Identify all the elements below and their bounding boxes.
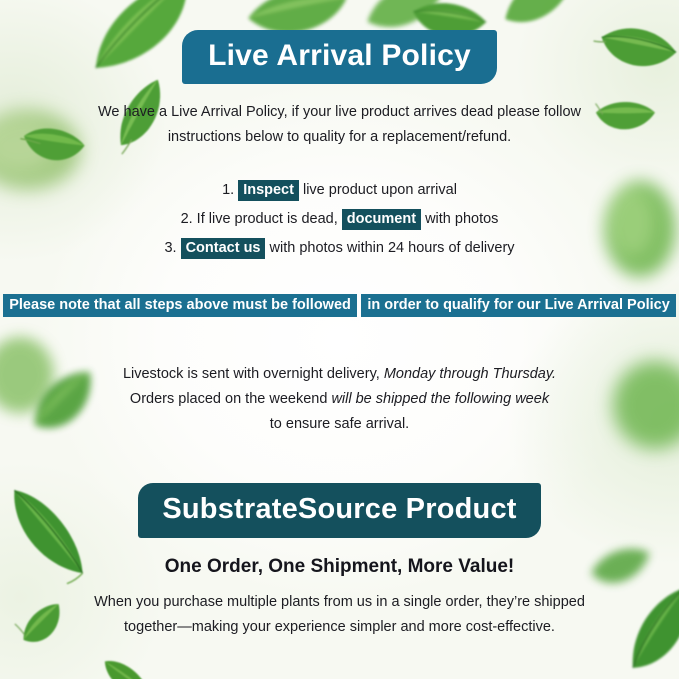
list-item: 3. Contact us with photos within 24 hour…	[0, 234, 679, 263]
shipping-line-1-text: Livestock is sent with overnight deliver…	[123, 366, 384, 382]
step-highlight-inspect: Inspect	[238, 180, 299, 201]
note-line-1: Please note that all steps above must be…	[3, 294, 357, 317]
live-arrival-banner-wrap: Live Arrival Policy	[0, 0, 679, 84]
step-pre-text: If live product is dead,	[193, 211, 342, 227]
note-line-2-wrap: in order to qualify for our Live Arrival…	[361, 292, 675, 318]
step-number: 2.	[181, 211, 193, 227]
step-highlight-contact-us: Contact us	[181, 238, 266, 259]
product-body-paragraph: When you purchase multiple plants from u…	[80, 590, 600, 640]
live-arrival-steps-list: 1. Inspect live product upon arrival 2. …	[0, 176, 679, 263]
product-subheading: One Order, One Shipment, More Value!	[0, 556, 679, 578]
substratesource-product-banner: SubstrateSource Product	[138, 483, 540, 538]
shipping-line-2-emphasis: will be shipped the following week	[331, 391, 549, 407]
step-pre-text	[177, 240, 181, 256]
step-highlight-document: document	[342, 209, 421, 230]
step-post-text: live product upon arrival	[299, 182, 457, 198]
note-line-2: in order to qualify for our Live Arrival…	[361, 294, 675, 317]
list-item: 1. Inspect live product upon arrival	[0, 176, 679, 205]
product-body-line-1: When you purchase multiple plants from u…	[80, 590, 600, 615]
step-post-text: with photos within 24 hours of delivery	[265, 240, 514, 256]
infographic-page: Live Arrival Policy We have a Live Arriv…	[0, 0, 679, 679]
live-arrival-note-box: Please note that all steps above must be…	[0, 287, 679, 318]
content-root: Live Arrival Policy We have a Live Arriv…	[0, 0, 679, 679]
product-banner-wrap: SubstrateSource Product	[0, 483, 679, 538]
live-arrival-intro-paragraph: We have a Live Arrival Policy, if your l…	[75, 100, 605, 150]
shipping-line-1: Livestock is sent with overnight deliver…	[90, 362, 590, 387]
step-post-text: with photos	[421, 211, 498, 227]
list-item: 2. If live product is dead, document wit…	[0, 205, 679, 234]
intro-line-2: instructions below to quality for a repl…	[75, 125, 605, 150]
step-number: 1.	[222, 182, 234, 198]
shipping-line-1-emphasis: Monday through Thursday.	[384, 366, 556, 382]
shipping-line-2-text: Orders placed on the weekend	[130, 391, 332, 407]
shipping-schedule-paragraph: Livestock is sent with overnight deliver…	[90, 362, 590, 437]
shipping-line-3: to ensure safe arrival.	[90, 412, 590, 437]
intro-line-1: We have a Live Arrival Policy, if your l…	[75, 100, 605, 125]
live-arrival-policy-banner: Live Arrival Policy	[182, 30, 497, 84]
product-body-line-2: together—making your experience simpler …	[80, 615, 600, 640]
shipping-line-2: Orders placed on the weekend will be shi…	[90, 387, 590, 412]
note-line-1-wrap: Please note that all steps above must be…	[3, 292, 357, 318]
step-number: 3.	[164, 240, 176, 256]
